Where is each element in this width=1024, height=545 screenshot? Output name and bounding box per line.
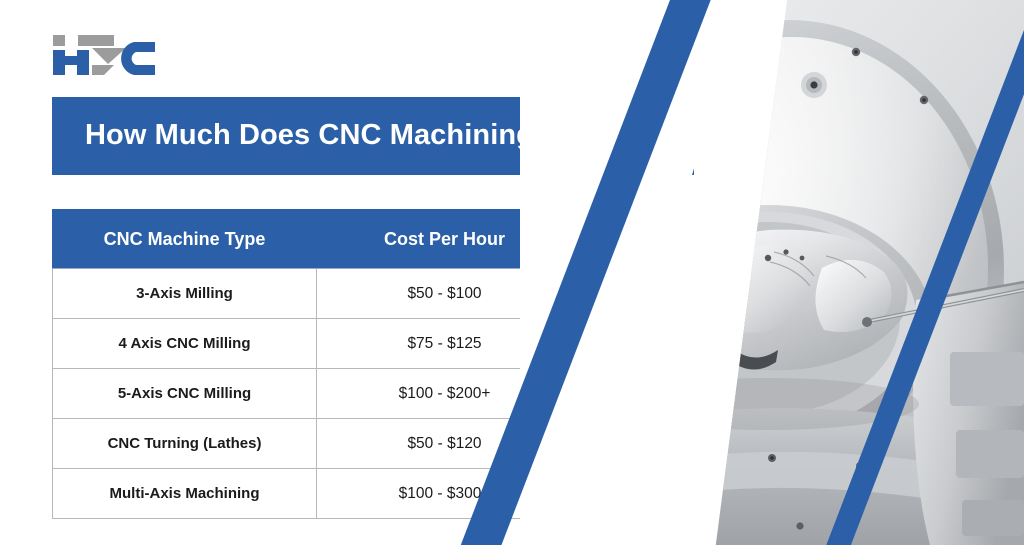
column-header-machine-type: CNC Machine Type (53, 210, 317, 269)
content-panel: HRC How Much Does CNC Machining Cost CNC… (0, 0, 720, 545)
hrc-logo[interactable]: HRC (52, 32, 156, 78)
table-header: CNC Machine Type Cost Per Hour (53, 210, 573, 269)
cell-cost-per-hour: $50 - $100 (317, 269, 573, 319)
table-row: 5-Axis CNC Milling $100 - $200+ (53, 369, 573, 419)
table-row: 4 Axis CNC Milling $75 - $125 (53, 319, 573, 369)
hrc-logo-mark (52, 32, 156, 78)
infographic-root: HRC How Much Does CNC Machining Cost CNC… (0, 0, 1024, 545)
column-header-cost-per-hour: Cost Per Hour (317, 210, 573, 269)
cell-cost-per-hour: $100 - $300+ (317, 469, 573, 519)
cell-machine-type: 4 Axis CNC Milling (53, 319, 317, 369)
title-banner: How Much Does CNC Machining Cost (52, 97, 694, 175)
table-row: 3-Axis Milling $50 - $100 (53, 269, 573, 319)
cell-machine-type: Multi-Axis Machining (53, 469, 317, 519)
cell-machine-type: 3-Axis Milling (53, 269, 317, 319)
page-title: How Much Does CNC Machining Cost (52, 120, 607, 152)
cell-machine-type: CNC Turning (Lathes) (53, 419, 317, 469)
cell-machine-type: 5-Axis CNC Milling (53, 369, 317, 419)
table-header-row: CNC Machine Type Cost Per Hour (53, 210, 573, 269)
